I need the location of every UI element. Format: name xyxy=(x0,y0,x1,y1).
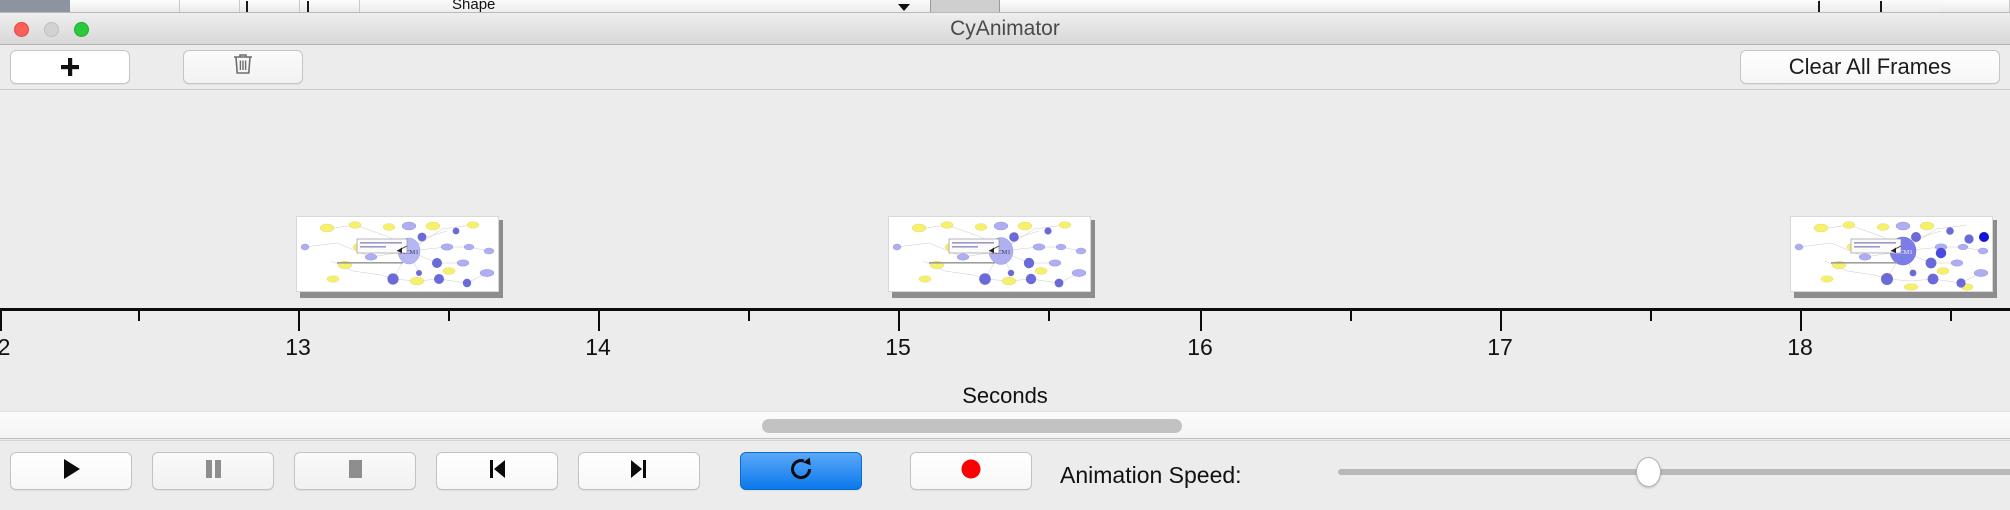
skip-forward-icon xyxy=(628,457,650,486)
toolbar: Clear All Frames xyxy=(0,45,2010,90)
first-frame-button[interactable] xyxy=(436,452,558,490)
ruler-tick-label: 2 xyxy=(0,334,10,361)
record-button[interactable] xyxy=(910,452,1032,490)
ruler-tick-minor xyxy=(1048,311,1050,321)
ruler-tick-label: 18 xyxy=(1787,334,1813,361)
skip-back-icon xyxy=(486,457,508,486)
loop-icon xyxy=(788,456,814,487)
delete-frame-button[interactable] xyxy=(183,50,303,84)
background-cell xyxy=(1000,0,1820,13)
ruler-tick-major xyxy=(898,311,900,331)
ruler-tick-minor xyxy=(138,311,140,321)
scrollbar-thumb[interactable] xyxy=(762,419,1182,433)
pause-icon xyxy=(202,457,224,486)
slider-knob[interactable] xyxy=(1636,457,1661,487)
timeline-frame[interactable]: MCM1 xyxy=(888,216,1095,298)
background-cell xyxy=(1940,0,2010,13)
ruler-tick-minor xyxy=(748,311,750,321)
ruler-tick-major xyxy=(1500,311,1502,331)
timeline-panel[interactable]: MCM1 xyxy=(0,90,2010,411)
ruler-tick-major xyxy=(0,311,2,331)
background-cell xyxy=(70,0,180,13)
play-button[interactable] xyxy=(10,452,132,490)
trash-icon xyxy=(232,52,254,82)
ruler-axis-title: Seconds xyxy=(0,383,2010,409)
ruler-tick-major xyxy=(1200,311,1202,331)
last-frame-button[interactable] xyxy=(578,452,700,490)
animation-speed-slider[interactable] xyxy=(1338,469,2010,475)
clear-all-frames-button[interactable]: Clear All Frames xyxy=(1740,50,2000,84)
pause-button[interactable] xyxy=(152,452,274,490)
ruler-tick-major xyxy=(598,311,600,331)
background-sort-arrow-icon xyxy=(898,4,910,11)
ruler-tick-label: 17 xyxy=(1487,334,1513,361)
timeline-horizontal-scrollbar[interactable] xyxy=(0,411,2010,439)
ruler-tick-major xyxy=(298,311,300,331)
background-tick xyxy=(246,1,248,13)
frame-thumbnail: MCM1 xyxy=(1790,216,1993,292)
animation-speed-label: Animation Speed: xyxy=(1060,462,1242,489)
background-window-label: Shape xyxy=(452,0,495,13)
ruler-tick-label: 13 xyxy=(285,334,311,361)
ruler-baseline xyxy=(0,308,2010,311)
clear-all-frames-label: Clear All Frames xyxy=(1789,54,1952,80)
loop-button[interactable] xyxy=(740,452,862,490)
stop-button[interactable] xyxy=(294,452,416,490)
ruler-tick-major xyxy=(1800,311,1802,331)
background-cell xyxy=(300,0,360,13)
frames-track[interactable]: MCM1 xyxy=(0,90,2010,308)
frame-thumbnail: MCM1 xyxy=(296,216,499,292)
play-icon xyxy=(60,457,82,486)
slider-track xyxy=(1338,469,2010,475)
timeline-frame[interactable]: MCM1 xyxy=(296,216,503,298)
ruler-tick-label: 15 xyxy=(885,334,911,361)
background-cell xyxy=(240,0,300,13)
stop-icon xyxy=(344,457,366,486)
ruler-tick-minor xyxy=(1650,311,1652,321)
background-window-titlebar xyxy=(0,0,70,13)
background-cell xyxy=(180,0,240,13)
background-tick xyxy=(1818,1,1820,12)
background-tick xyxy=(1880,1,1882,12)
window-title: CyAnimator xyxy=(0,13,2010,45)
ruler-tick-label: 16 xyxy=(1187,334,1213,361)
ruler-tick-minor xyxy=(1950,311,1952,321)
frame-thumbnail: MCM1 xyxy=(888,216,1091,292)
background-grey-box xyxy=(930,0,1000,13)
add-frame-button[interactable] xyxy=(10,50,130,84)
background-tick xyxy=(307,1,309,13)
ruler-tick-minor xyxy=(1350,311,1352,321)
timeline-ruler[interactable]: 2 13 14 15 16 17 18 Seconds xyxy=(0,308,2010,411)
timeline-frame[interactable]: MCM1 xyxy=(1790,216,1997,298)
window-titlebar: CyAnimator xyxy=(0,13,2010,45)
transport-bar: Animation Speed: xyxy=(0,440,2010,510)
ruler-tick-minor xyxy=(448,311,450,321)
ruler-tick-label: 14 xyxy=(585,334,611,361)
plus-icon xyxy=(58,55,82,79)
record-icon xyxy=(959,457,983,486)
background-window-strip: Shape xyxy=(0,0,2010,13)
